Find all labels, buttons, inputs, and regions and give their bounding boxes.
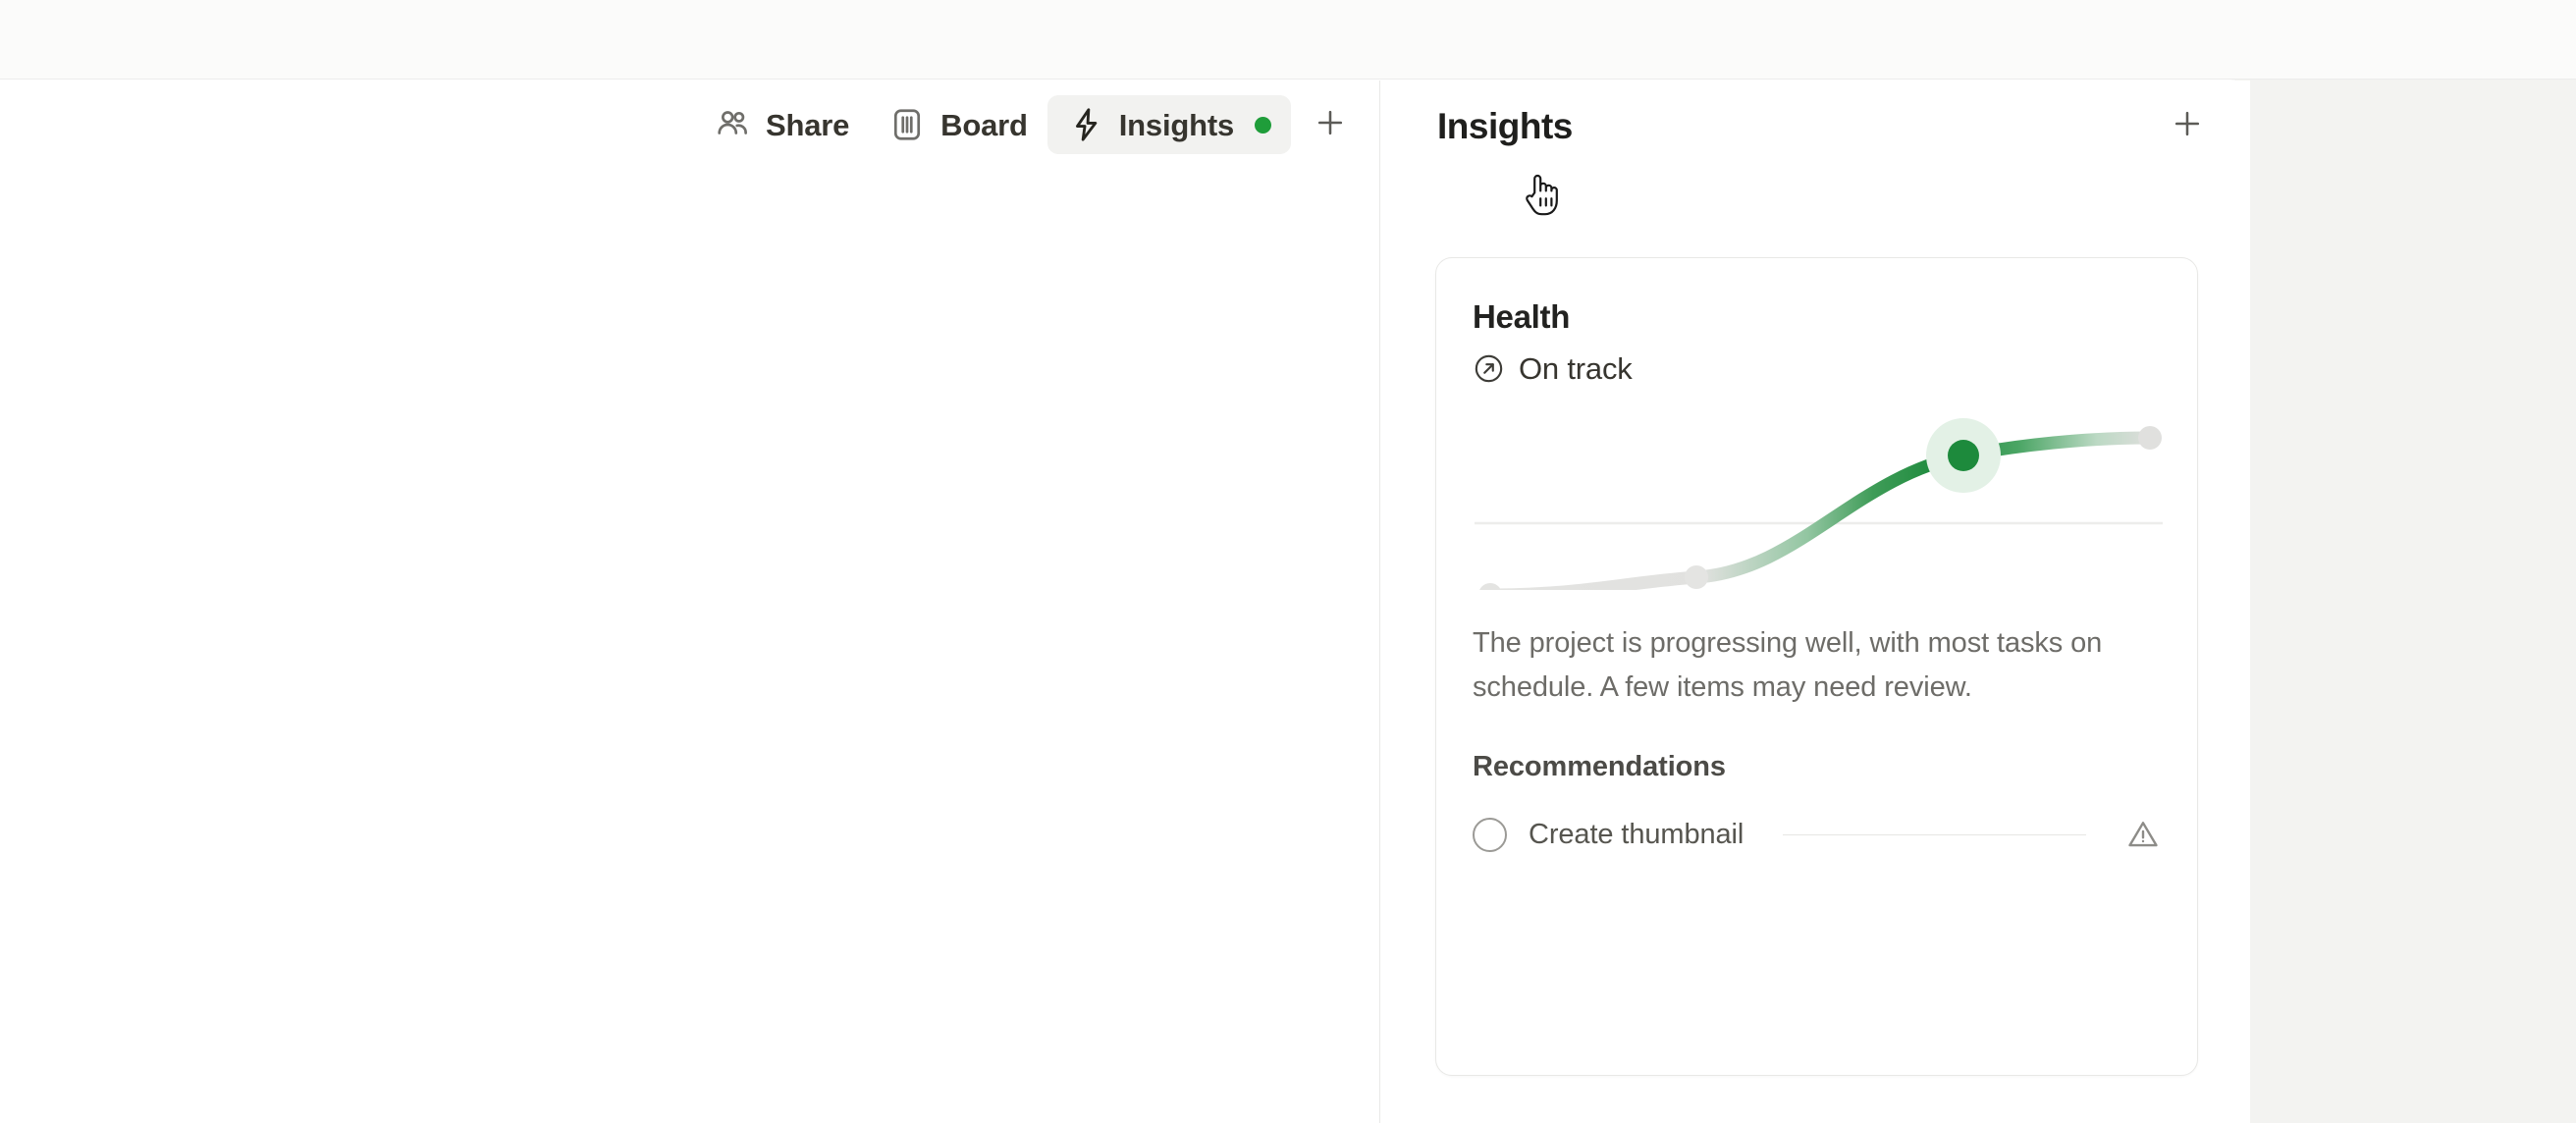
plus-icon	[2170, 106, 2205, 146]
arrow-up-right-circle-icon	[1473, 352, 1505, 385]
health-status: On track	[1473, 352, 2161, 385]
toolbar-item-share[interactable]: Share	[694, 95, 869, 154]
health-trend-chart	[1473, 408, 2165, 590]
insights-panel-title: Insights	[1437, 108, 1573, 144]
toolbar-item-share-label: Share	[766, 110, 849, 140]
plus-icon	[1313, 105, 1348, 145]
toolbar: Share Board Insights	[0, 80, 1379, 170]
insights-panel-header: Insights	[1380, 80, 2250, 171]
toolbar-item-board[interactable]: Board	[869, 95, 1047, 154]
app-chrome-strip	[0, 0, 2576, 80]
toolbar-item-board-label: Board	[940, 110, 1028, 140]
chart-point-1	[1685, 565, 1708, 589]
health-card[interactable]: Health On track	[1435, 257, 2198, 1076]
insights-panel: Insights Health On track	[1380, 80, 2250, 1123]
chart-line	[1490, 438, 2150, 590]
board-icon	[888, 106, 926, 143]
health-status-label: On track	[1519, 353, 1633, 384]
insights-status-dot	[1255, 117, 1271, 134]
health-summary-text: The project is progressing well, with mo…	[1473, 621, 2120, 710]
recommendation-row[interactable]: Create thumbnail	[1473, 817, 2161, 852]
toolbar-item-insights-label: Insights	[1119, 110, 1234, 140]
recommendation-connector	[1783, 834, 2086, 835]
recommendation-label: Create thumbnail	[1529, 821, 1744, 849]
circle-empty-icon[interactable]	[1473, 818, 1507, 852]
warning-triangle-icon[interactable]	[2125, 817, 2161, 852]
chart-point-2	[1948, 440, 1979, 471]
lightning-icon	[1067, 106, 1104, 143]
chart-point-0	[1478, 583, 1502, 590]
insights-add-button[interactable]	[2160, 98, 2215, 153]
users-icon	[714, 106, 751, 143]
recommendations-title: Recommendations	[1473, 751, 2161, 783]
toolbar-add-button[interactable]	[1303, 97, 1358, 152]
chart-point-3	[2138, 426, 2162, 450]
health-card-title: Health	[1473, 299, 2161, 335]
toolbar-item-insights[interactable]: Insights	[1047, 95, 1291, 154]
